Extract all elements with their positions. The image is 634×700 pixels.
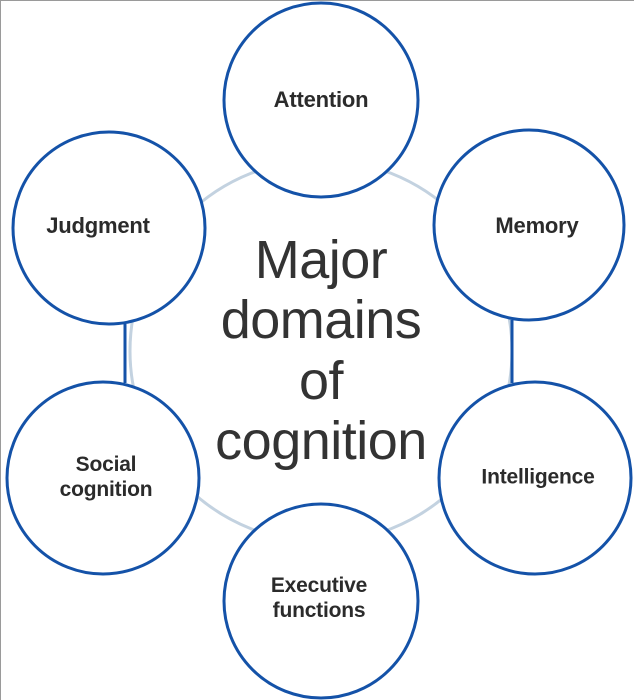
node-circle-memory[interactable]: [434, 130, 624, 320]
cognition-domains-diagram: Major domains of cognition AttentionMemo…: [0, 0, 634, 700]
node-circle-intelligence[interactable]: [439, 382, 631, 574]
diagram-canvas: [1, 1, 634, 700]
node-circle-social-cognition[interactable]: [7, 382, 199, 574]
node-circle-judgment[interactable]: [13, 132, 205, 324]
node-circle-attention[interactable]: [224, 3, 418, 197]
node-circle-executive-functions[interactable]: [224, 504, 418, 698]
